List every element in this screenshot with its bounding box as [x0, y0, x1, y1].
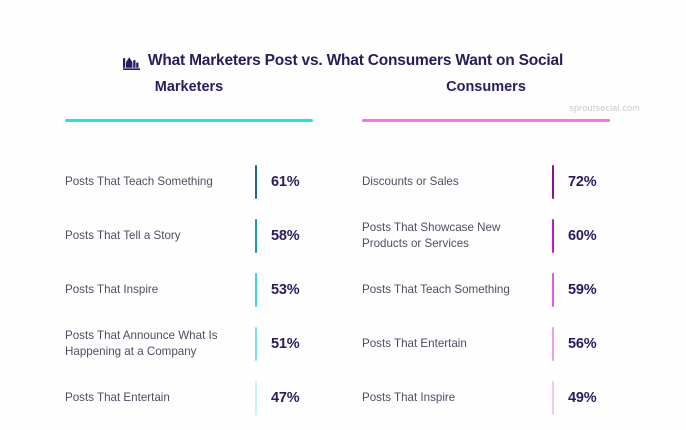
row-value: 60%	[568, 228, 610, 244]
list-item: Posts That Inspire 53%	[65, 263, 313, 317]
list-item: Posts That Entertain 47%	[65, 371, 313, 425]
row-label: Posts That Teach Something	[362, 282, 552, 298]
row-value: 47%	[271, 390, 313, 406]
row-value: 51%	[271, 336, 313, 352]
list-item: Posts That Entertain 56%	[362, 317, 610, 371]
infographic-canvas: What Marketers Post vs. What Consumers W…	[0, 0, 686, 430]
list-item: Posts That Inspire 49%	[362, 371, 610, 425]
row-value: 59%	[568, 282, 610, 298]
row-label: Posts That Teach Something	[65, 174, 255, 190]
title-row: What Marketers Post vs. What Consumers W…	[0, 52, 686, 70]
list-item: Posts That Tell a Story 58%	[65, 209, 313, 263]
divider-rule-marketers	[65, 119, 313, 122]
divider-rule-consumers	[362, 119, 610, 122]
row-label: Discounts or Sales	[362, 174, 552, 190]
row-accent-bar	[255, 273, 258, 307]
row-accent-bar	[552, 273, 555, 307]
row-label: Posts That Inspire	[362, 390, 552, 406]
marketers-column: Posts That Teach Something 61% Posts Tha…	[65, 155, 313, 425]
row-accent-bar	[255, 381, 258, 415]
consumers-column: Discounts or Sales 72% Posts That Showca…	[362, 155, 610, 425]
watermark-sproutsocial: sproutsocial.com	[569, 103, 640, 113]
row-label: Posts That Entertain	[362, 336, 552, 352]
column-heading-consumers: Consumers	[362, 79, 610, 95]
row-value: 49%	[568, 390, 610, 406]
row-accent-bar	[255, 327, 258, 361]
list-item: Posts That Teach Something 59%	[362, 263, 610, 317]
row-label: Posts That Announce What Is Happening at…	[65, 328, 255, 359]
row-accent-bar	[552, 381, 555, 415]
list-item: Posts That Showcase New Products or Serv…	[362, 209, 610, 263]
list-item: Discounts or Sales 72%	[362, 155, 610, 209]
row-accent-bar	[255, 165, 258, 199]
bar-chart-icon	[123, 55, 140, 70]
row-value: 56%	[568, 336, 610, 352]
row-value: 61%	[271, 174, 313, 190]
row-label: Posts That Entertain	[65, 390, 255, 406]
row-value: 53%	[271, 282, 313, 298]
row-value: 72%	[568, 174, 610, 190]
row-accent-bar	[255, 219, 258, 253]
row-label: Posts That Showcase New Products or Serv…	[362, 220, 552, 251]
row-label: Posts That Inspire	[65, 282, 255, 298]
row-label: Posts That Tell a Story	[65, 228, 255, 244]
row-accent-bar	[552, 165, 555, 199]
row-value: 58%	[271, 228, 313, 244]
column-heading-marketers: Marketers	[65, 79, 313, 95]
page-title: What Marketers Post vs. What Consumers W…	[148, 52, 563, 70]
list-item: Posts That Teach Something 61%	[65, 155, 313, 209]
list-item: Posts That Announce What Is Happening at…	[65, 317, 313, 371]
row-accent-bar	[552, 219, 555, 253]
row-accent-bar	[552, 327, 555, 361]
